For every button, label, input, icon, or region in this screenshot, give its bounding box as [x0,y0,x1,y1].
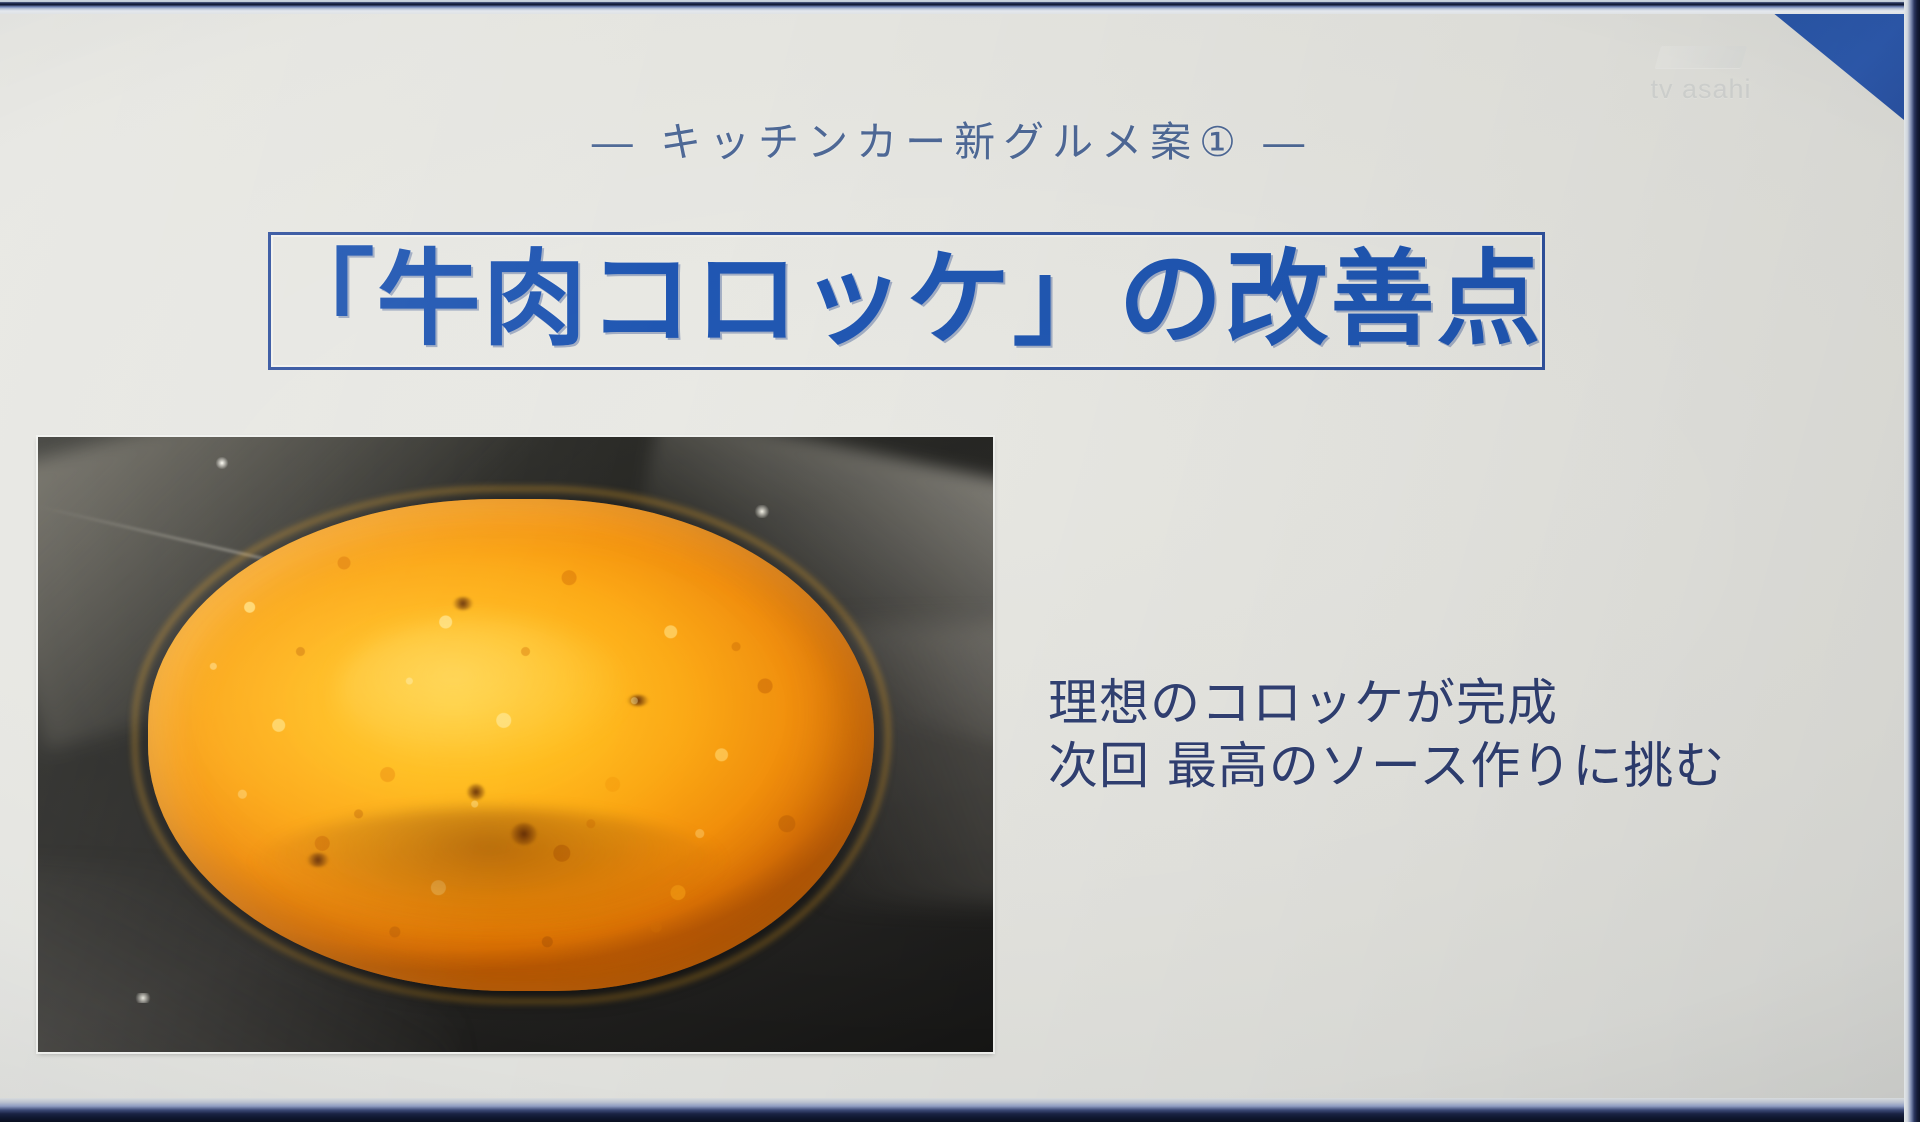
croquette-photo [38,437,993,1052]
croquette-highlight [337,617,627,765]
slide-subtitle: — キッチンカー新グルメ案① — [0,108,1904,168]
plate-specular-highlight [215,457,229,469]
corner-accent-triangle [1772,12,1904,120]
tv-screen-capture: tv asahi — キッチンカー新グルメ案① — 「牛肉コロッケ」の改善点 [0,0,1920,1122]
plate-specular-highlight [754,505,770,518]
screen-bezel-bottom [0,1098,1920,1122]
presentation-slide: tv asahi — キッチンカー新グルメ案① — 「牛肉コロッケ」の改善点 [0,12,1904,1098]
croquette-shadow [249,808,728,936]
slide-title-box: 「牛肉コロッケ」の改善点 [268,232,1545,370]
screen-bezel-right [1904,0,1920,1122]
croquette-scorch-spot [467,784,485,800]
croquette-scorch-spot [453,597,473,610]
croquette-scorch-spot [627,695,649,706]
slide-title: 「牛肉コロッケ」の改善点 [271,247,1543,351]
croquette-scorch-spot [307,853,329,867]
croquette-scorch-spot [511,823,537,845]
watermark-label: tv asahi [1606,74,1796,105]
caption-line-1: 理想のコロッケが完成 [1048,672,1838,735]
croquette-body [148,499,874,991]
plate-specular-highlight [134,993,152,1003]
slide-caption: 理想のコロッケが完成 次回 最高のソース作りに挑む [1048,672,1838,798]
caption-line-2: 次回 最高のソース作りに挑む [1048,735,1838,798]
broadcaster-watermark: tv asahi [1606,46,1796,105]
watermark-logo-icon [1655,46,1747,68]
